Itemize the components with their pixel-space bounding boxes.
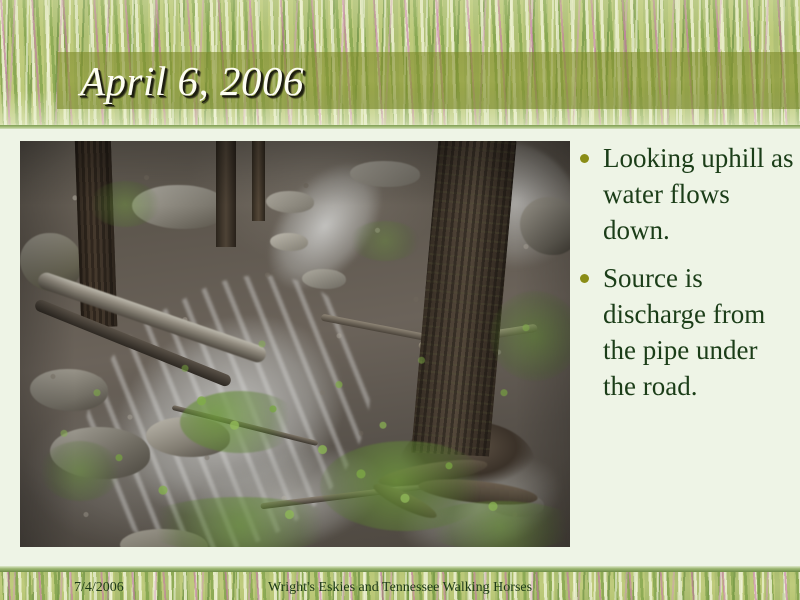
divider-bottom bbox=[0, 566, 800, 572]
footer-title: Wright's Eskies and Tennessee Walking Ho… bbox=[0, 580, 800, 596]
photo-vegetation bbox=[180, 391, 300, 453]
bullet-item-text: Looking uphill as water flows down. bbox=[603, 140, 795, 248]
photo-background-trunk bbox=[216, 141, 236, 247]
divider-top bbox=[0, 125, 800, 129]
photo-vegetation bbox=[420, 501, 570, 547]
slide: April 6, 2006 bbox=[0, 0, 800, 600]
slide-title: April 6, 2006 bbox=[80, 49, 720, 113]
photo-rock bbox=[30, 369, 108, 411]
bullet-item: Looking uphill as water flows down. bbox=[580, 140, 795, 248]
photo-rock bbox=[270, 233, 308, 251]
photo-vegetation bbox=[490, 291, 570, 381]
bullet-item-text: Source is discharge from the pipe under … bbox=[603, 260, 795, 404]
slide-photo bbox=[20, 141, 570, 547]
photo-rock bbox=[302, 269, 346, 289]
bullet-dot-icon bbox=[580, 274, 589, 283]
photo-rock bbox=[266, 191, 314, 213]
bullet-item: Source is discharge from the pipe under … bbox=[580, 260, 795, 404]
photo-vegetation bbox=[90, 181, 160, 227]
bullet-list: Looking uphill as water flows down. Sour… bbox=[580, 140, 795, 416]
photo-background-trunk bbox=[252, 141, 265, 221]
bullet-dot-icon bbox=[580, 154, 589, 163]
photo-vegetation bbox=[40, 441, 120, 501]
photo-rock bbox=[350, 161, 420, 187]
photo-vegetation bbox=[140, 497, 340, 547]
photo-vegetation bbox=[350, 221, 420, 261]
